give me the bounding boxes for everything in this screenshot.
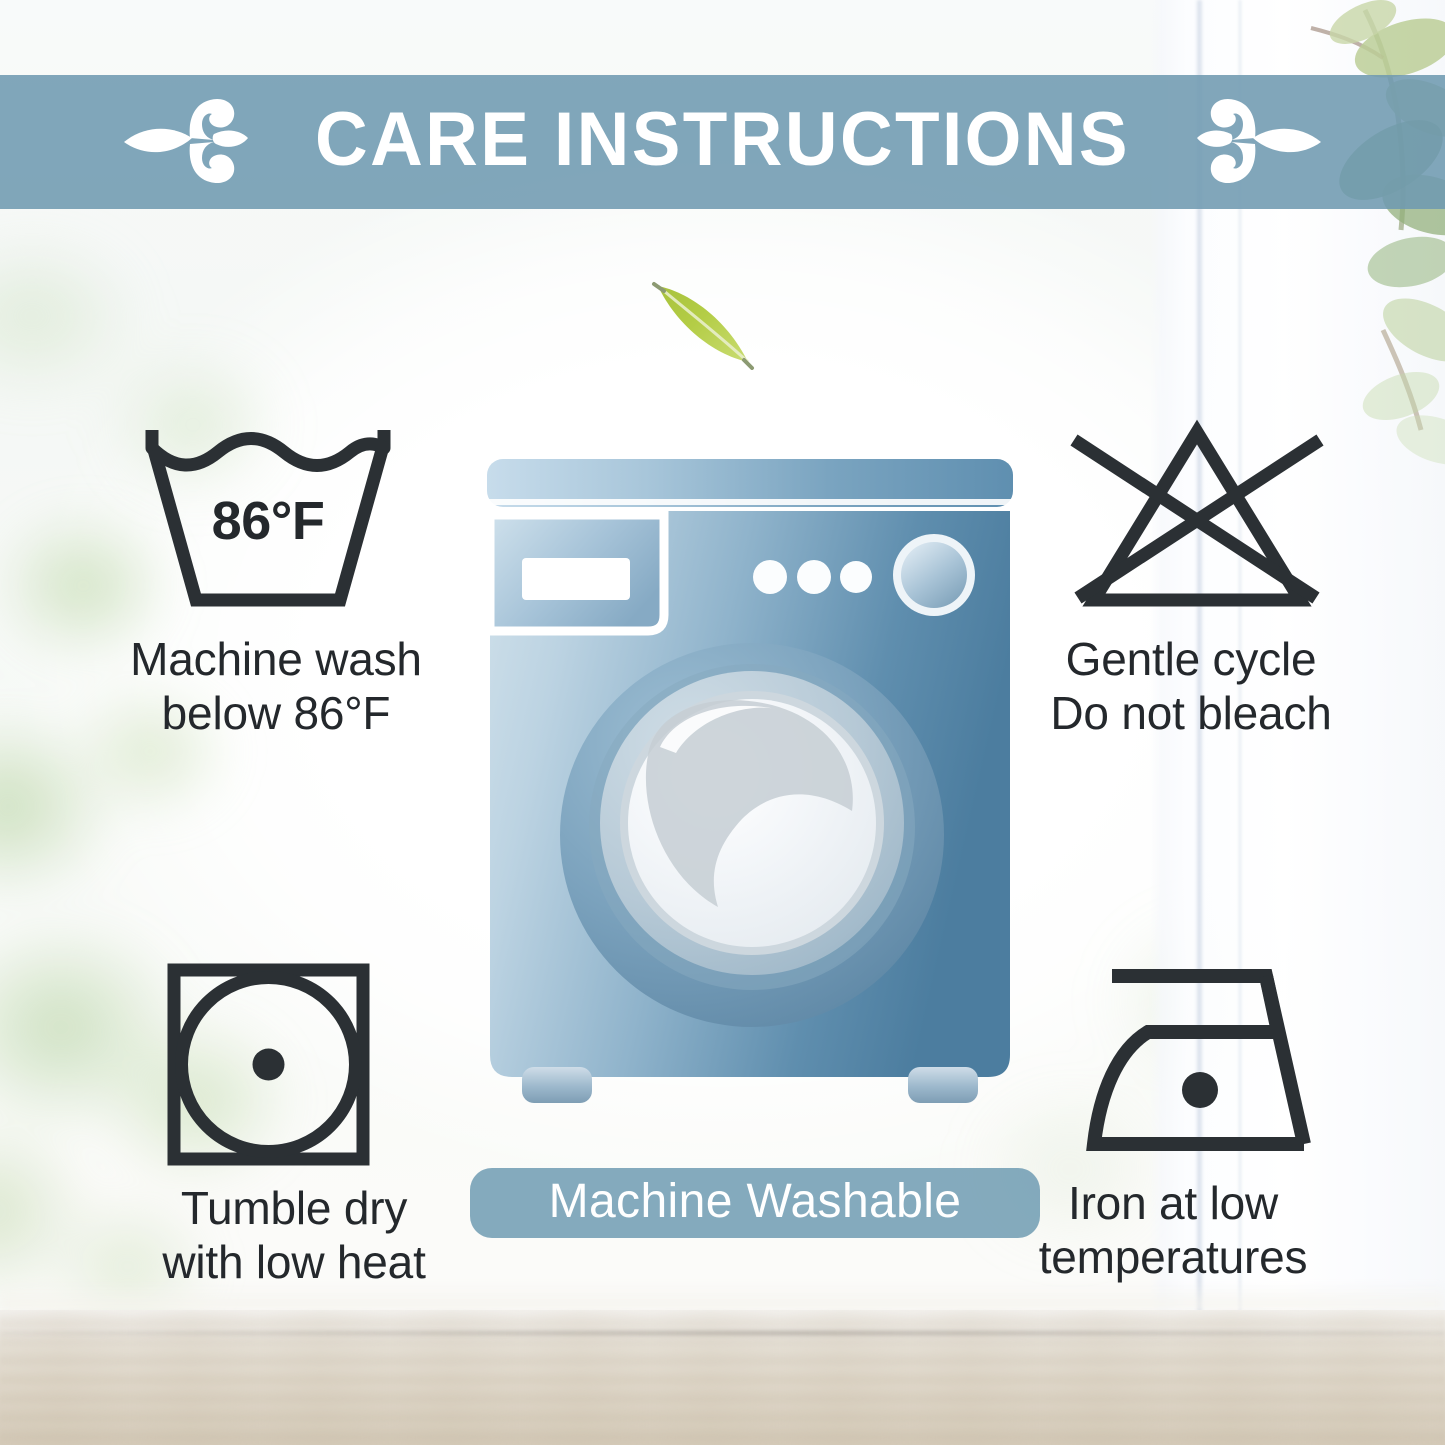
care-item-tumble-dry: Tumble dry with low heat (18, 962, 518, 1290)
care-item-label-machine-wash: Machine wash below 86°F (26, 632, 526, 741)
washer-drawer-handle (522, 558, 630, 600)
iron-low-temperature-icon (947, 962, 1445, 1162)
wash-tub-icon: 86°F (18, 418, 518, 618)
front-load-washing-machine-illustration (480, 455, 1020, 1120)
green-leaf-icon (650, 278, 766, 370)
machine-washable-badge: Machine Washable (470, 1168, 1040, 1238)
banner: CARE INSTRUCTIONS (0, 75, 1445, 209)
leafy-branch-icon (1215, 0, 1445, 470)
crossed-triangle-no-bleach-icon (947, 418, 1445, 618)
washer-door (560, 643, 944, 1027)
washer-program-dial (893, 534, 975, 616)
washer-control-buttons (753, 560, 872, 594)
wood-table-seam (0, 1331, 1445, 1335)
tumble-dry-low-heat-icon (18, 962, 518, 1167)
page-title: CARE INSTRUCTIONS (315, 102, 1130, 182)
care-instructions-infographic: CARE INSTRUCTIONS (0, 0, 1445, 1445)
wash-temperature-value: 86°F (18, 490, 518, 552)
care-item-machine-wash: 86°F Machine wash below 86°F (18, 418, 518, 741)
fleur-de-lis-ornament-left-icon (122, 94, 252, 190)
care-item-label-tumble-dry: Tumble dry with low heat (44, 1181, 544, 1290)
fleur-de-lis-ornament-right-icon (1193, 94, 1323, 190)
washer-foot-right (908, 1067, 978, 1103)
washer-foot-left (522, 1067, 592, 1103)
care-item-do-not-bleach: Gentle cycle Do not bleach (947, 418, 1445, 741)
machine-washable-badge-label: Machine Washable (549, 1178, 962, 1229)
